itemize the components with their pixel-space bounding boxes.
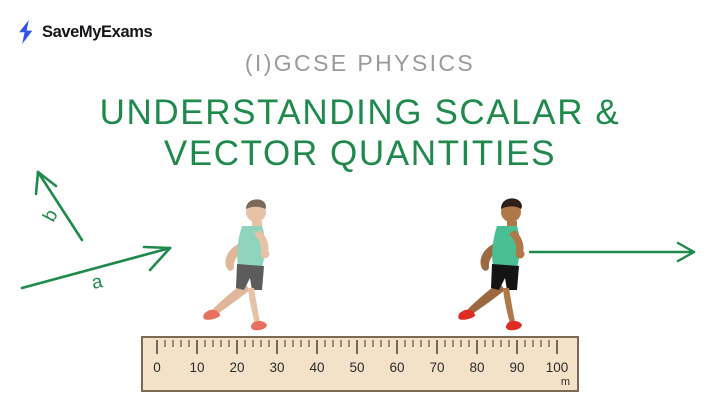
page-title-line-1: UNDERSTANDING SCALAR &	[100, 93, 621, 132]
ruler: 0102030405060708090100 m	[141, 336, 579, 392]
velocity-arrow-head-2	[678, 252, 694, 261]
ruler-tick-label: 20	[229, 360, 244, 375]
ruler-tick-label: 10	[189, 360, 204, 375]
velocity-arrow-right	[528, 236, 706, 268]
brand-wordmark: SaveMyExams	[42, 23, 152, 42]
brand-logo: SaveMyExams	[16, 20, 152, 44]
velocity-arrow-head-1	[678, 243, 694, 252]
course-subtitle: (I)GCSE PHYSICS	[0, 50, 720, 77]
runner-left-shoe-back	[203, 310, 220, 320]
ruler-tick-label: 60	[389, 360, 404, 375]
ruler-tick-label: 70	[429, 360, 444, 375]
runner-left	[200, 196, 296, 336]
vector-arrow-b-head-2	[36, 172, 38, 194]
ruler-labels: 0102030405060708090100	[143, 360, 577, 382]
ruler-tick-label: 0	[153, 360, 161, 375]
vector-arrow-a-head-1	[144, 247, 170, 248]
ruler-unit-label: m	[561, 376, 570, 388]
runner-right	[455, 196, 551, 336]
ruler-tick-label: 40	[309, 360, 324, 375]
ruler-tick-label: 100	[546, 360, 569, 375]
ruler-tick-label: 30	[269, 360, 284, 375]
runner-left-shorts	[236, 264, 264, 290]
ruler-tick-label: 90	[509, 360, 524, 375]
lightning-bolt-icon	[16, 20, 36, 44]
vector-arrow-group: b a	[0, 160, 210, 315]
runner-right-shoe-back	[458, 310, 475, 320]
runner-right-shoe-front	[506, 321, 522, 330]
ruler-tick-label: 80	[469, 360, 484, 375]
vector-arrows-svg	[0, 160, 210, 315]
runner-right-shorts	[491, 264, 519, 290]
ruler-tick-label: 50	[349, 360, 364, 375]
slide-canvas: SaveMyExams (I)GCSE PHYSICS UNDERSTANDIN…	[0, 0, 720, 404]
runner-left-shoe-front	[251, 321, 267, 330]
